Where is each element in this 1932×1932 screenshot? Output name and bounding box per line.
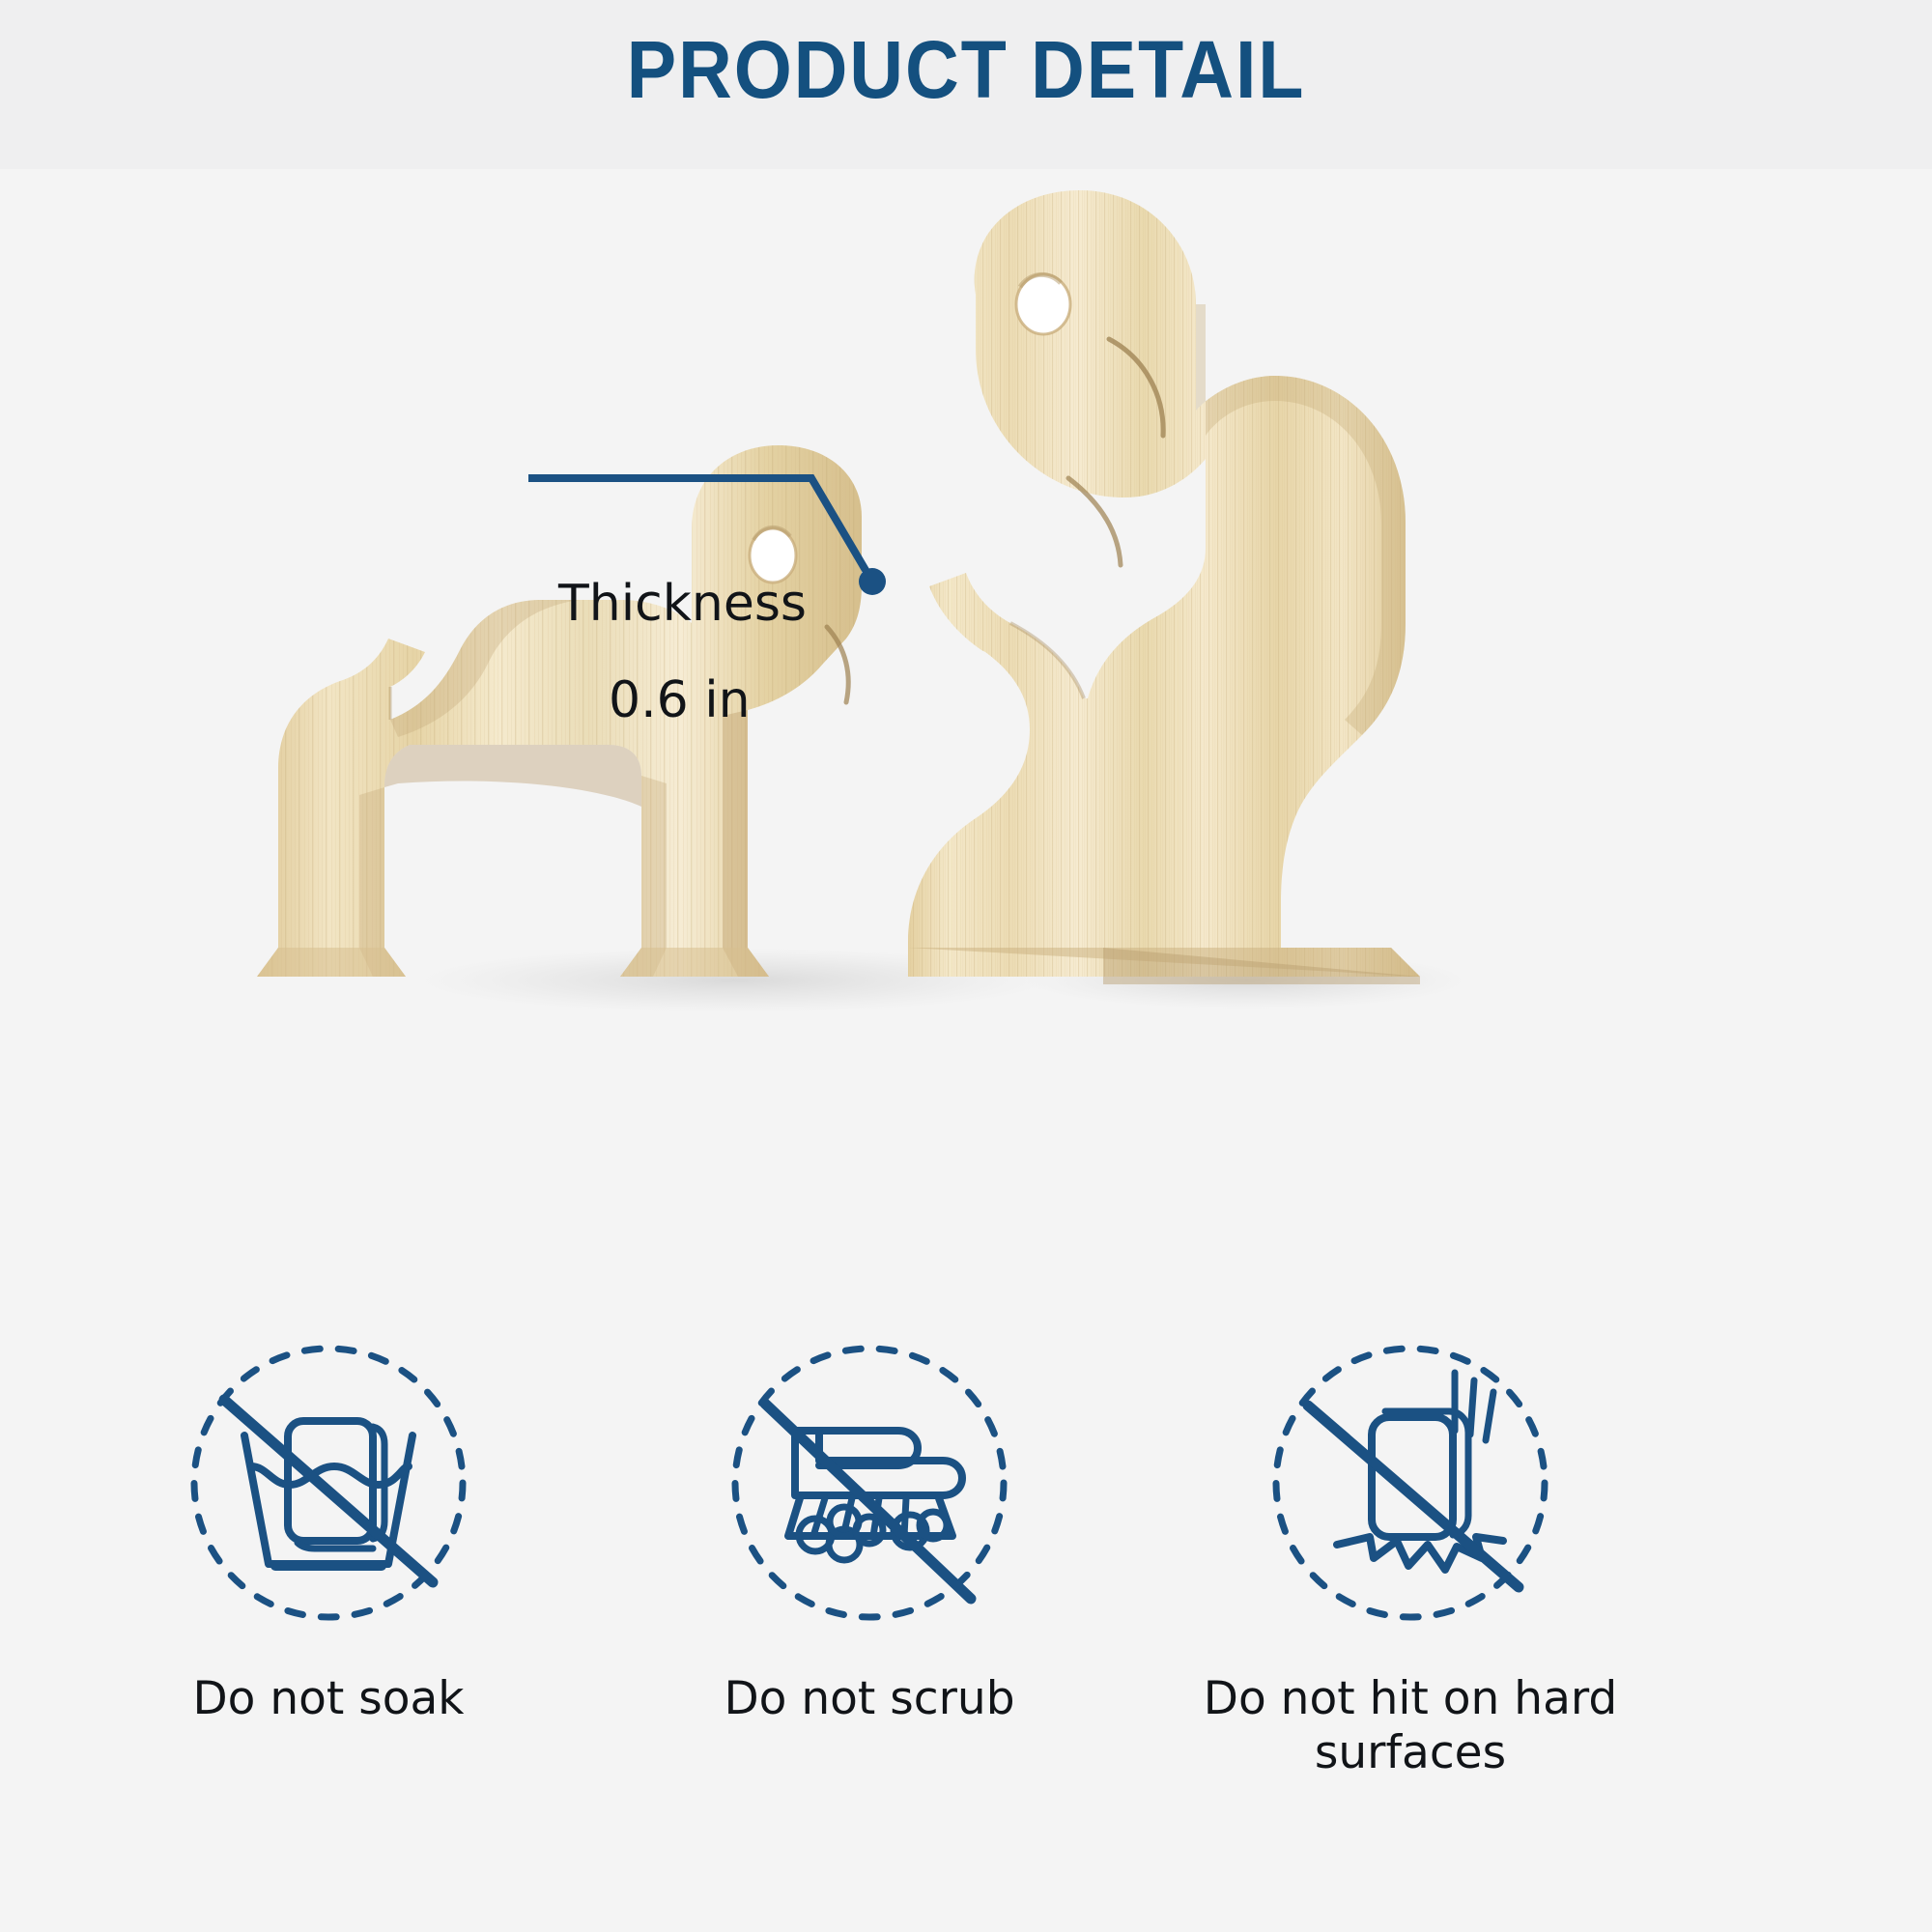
care-item-no-soak: Do not soak [116,1338,541,1725]
no-hit-hard-surface-icon [1265,1338,1555,1628]
person-eye-hole [1016,274,1070,334]
care-caption-no-hit: Do not hit on hard surfaces [1198,1672,1623,1781]
page-title: PRODUCT DETAIL [77,27,1855,112]
thickness-callout-dot [859,568,886,595]
thickness-label: Thickness [558,577,807,632]
product-illustration [0,169,1932,1425]
thickness-value: 0.6 in [609,673,751,728]
no-soak-icon [184,1338,473,1628]
care-item-no-scrub: Do not scrub [657,1338,1082,1725]
product-detail-page: PRODUCT DETAIL [0,0,1932,1932]
product-hero-stage: Thickness 0.6 in [0,169,1932,1256]
page-header: PRODUCT DETAIL [0,0,1932,169]
care-instructions-row: Do not soak [0,1338,1932,1879]
care-caption-no-soak: Do not soak [116,1672,541,1725]
wood-person-figure [908,190,1420,984]
wood-dog-figure [257,445,862,977]
no-scrub-icon [724,1338,1014,1628]
care-item-no-hit: Do not hit on hard surfaces [1198,1338,1623,1781]
care-caption-no-scrub: Do not scrub [657,1672,1082,1725]
shadow-dog [415,948,1053,1013]
shadow-person [1024,952,1468,1009]
